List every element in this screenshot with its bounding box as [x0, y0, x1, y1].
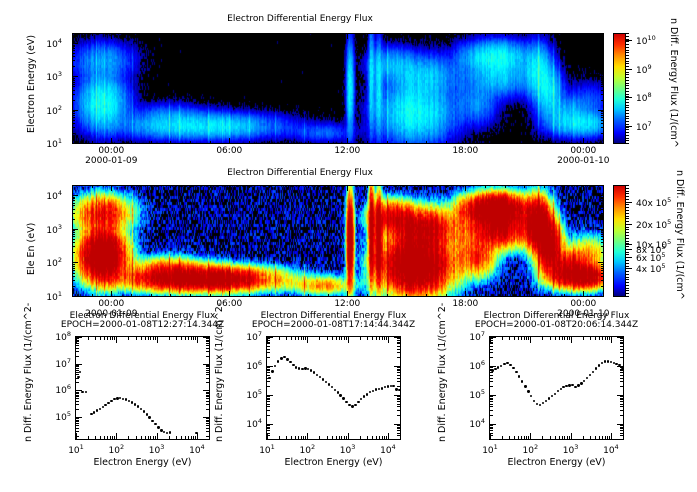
y-tick	[620, 367, 623, 368]
y-tick	[267, 370, 270, 371]
y-tick	[206, 420, 209, 421]
data-point	[93, 411, 95, 413]
data-point	[539, 404, 541, 406]
data-point	[125, 398, 127, 400]
y-tick	[267, 398, 270, 399]
x-tick	[141, 337, 142, 340]
y-tick	[490, 427, 493, 428]
y-tick	[490, 357, 493, 358]
top-panel-title: Electron Differential Energy Flux	[0, 14, 600, 24]
spectrum-xtick-label: 103	[559, 443, 583, 456]
colorbar-tick-minor	[626, 191, 629, 192]
y-tick	[76, 392, 79, 393]
x-tick	[209, 337, 210, 340]
colorbar-tick-minor	[626, 232, 629, 233]
data-point	[307, 368, 309, 370]
x-tick	[564, 337, 565, 340]
y-tick	[203, 337, 209, 338]
data-point	[580, 382, 582, 384]
x-tick	[360, 436, 361, 439]
x-tick	[379, 337, 380, 340]
data-point	[387, 385, 389, 387]
colorbar-tick-minor	[626, 229, 629, 230]
y-tick	[397, 404, 400, 405]
colorbar-tick-minor	[626, 241, 629, 242]
x-tick	[341, 436, 342, 439]
x-tick	[344, 337, 345, 340]
y-tick	[490, 428, 493, 429]
x-tick	[191, 337, 192, 340]
colorbar-tick-minor	[626, 94, 629, 95]
data-point	[381, 387, 383, 389]
x-tick	[569, 436, 570, 439]
y-tick	[620, 415, 623, 416]
data-point	[369, 391, 371, 393]
x-tick	[388, 433, 389, 439]
y-tick	[490, 349, 493, 350]
x-tick	[611, 433, 612, 439]
x-tick	[372, 436, 373, 439]
figure-root: Electron Differential Energy Flux Electr…	[0, 0, 697, 492]
y-tick	[490, 352, 493, 353]
y-tick	[267, 342, 270, 343]
y-tick	[267, 381, 270, 382]
top-xtick-labels: 00:002000-01-0906:0012:0018:0000:002000-…	[0, 146, 697, 170]
spectrum-ytick-label: 106	[236, 359, 262, 372]
colorbar-tick-minor	[626, 288, 629, 289]
x-tick	[195, 337, 196, 340]
y-tick	[267, 439, 270, 440]
x-tick	[571, 337, 572, 343]
y-tick	[76, 421, 79, 422]
colorbar-tick-minor	[626, 285, 629, 286]
y-tick	[76, 345, 79, 346]
y-tick	[206, 356, 209, 357]
y-tick	[490, 375, 493, 376]
middle-ytick-labels: 104103102101	[0, 185, 70, 297]
colorbar-tick-minor	[626, 118, 629, 119]
data-point	[146, 413, 148, 415]
y-tick	[206, 418, 209, 419]
y-tick	[206, 393, 209, 394]
x-tick	[141, 436, 142, 439]
y-tick	[490, 367, 493, 368]
x-tick	[327, 337, 328, 340]
x-tick	[372, 337, 373, 340]
x-tick	[559, 436, 560, 439]
y-tick	[76, 364, 82, 365]
y-tick	[206, 436, 209, 437]
data-point	[331, 386, 333, 388]
spectrum-xtick-label: 102	[104, 443, 128, 456]
colorbar-tick-minor	[626, 204, 629, 205]
y-tick	[490, 415, 493, 416]
data-point	[148, 416, 150, 418]
y-tick	[490, 424, 496, 425]
x-tick	[181, 337, 182, 340]
y-tick	[620, 372, 623, 373]
data-point	[96, 409, 98, 411]
spectrum-ytick-label: 104	[459, 417, 485, 430]
spectrum-ytick-label: 107	[236, 330, 262, 343]
y-tick	[397, 439, 400, 440]
colorbar-tick-minor	[626, 199, 629, 200]
x-tick	[562, 436, 563, 439]
spectrum-ytick-label: 107	[45, 357, 71, 370]
spectrum-ytick-label: 105	[45, 410, 71, 423]
x-tick	[148, 436, 149, 439]
x-tick	[348, 337, 349, 343]
x-tick	[107, 436, 108, 439]
y-tick	[620, 410, 623, 411]
xtick-label: 00:00	[565, 146, 601, 156]
y-tick	[206, 396, 209, 397]
x-tick	[602, 436, 603, 439]
colorbar-tick-minor	[626, 282, 629, 283]
spectrum-plot-area[interactable]	[266, 336, 401, 440]
colorbar-tick-minor	[626, 266, 629, 267]
x-tick	[524, 337, 525, 340]
top-ytick-labels: 104103102101	[0, 33, 70, 144]
y-tick	[397, 435, 400, 436]
colorbar-tick-minor	[626, 235, 629, 236]
colorbar-tick-major	[626, 244, 632, 245]
x-tick	[509, 337, 510, 340]
y-tick	[206, 404, 209, 405]
y-tick	[394, 424, 400, 425]
y-tick	[76, 370, 79, 371]
data-point	[601, 362, 603, 364]
x-tick	[609, 436, 610, 439]
data-point	[515, 371, 517, 373]
x-tick	[562, 337, 563, 340]
xtick-label: 06:00	[211, 146, 247, 156]
y-tick	[206, 392, 209, 393]
x-tick	[298, 337, 299, 340]
data-point	[607, 360, 609, 362]
y-tick	[206, 368, 209, 369]
y-tick	[76, 404, 79, 405]
x-tick	[623, 337, 624, 340]
y-tick	[397, 428, 400, 429]
y-tick	[76, 423, 79, 424]
y-tick	[620, 343, 623, 344]
data-point	[151, 420, 153, 422]
y-tick	[267, 337, 273, 338]
colorbar-tick-minor	[626, 221, 629, 222]
colorbar-tick-minor	[626, 260, 629, 261]
data-point	[548, 397, 550, 399]
y-tick	[267, 378, 270, 379]
y-tick	[620, 396, 623, 397]
colorbar-tick-minor	[626, 36, 629, 37]
x-tick	[595, 337, 596, 340]
xtick-label: 12:00	[329, 146, 365, 156]
y-tick	[267, 349, 270, 350]
y-tick	[490, 435, 493, 436]
x-tick	[176, 436, 177, 439]
y-tick	[620, 370, 623, 371]
colorbar-tick-minor	[626, 193, 629, 194]
x-tick	[583, 436, 584, 439]
x-tick	[193, 436, 194, 439]
x-tick	[384, 436, 385, 439]
y-tick	[490, 381, 493, 382]
data-point	[107, 402, 109, 404]
colorbar-tick-label: 20x 105	[636, 218, 671, 231]
spectrum-xtick-label: 103	[145, 443, 169, 456]
y-tick	[397, 367, 400, 368]
spectrum-ytick-label: 108	[45, 330, 71, 343]
y-tick	[267, 424, 273, 425]
data-point	[509, 364, 511, 366]
colorbar-tick-minor	[626, 135, 629, 136]
y-tick	[76, 378, 79, 379]
y-tick	[76, 417, 82, 418]
y-tick	[490, 340, 493, 341]
y-tick	[206, 374, 209, 375]
data-point	[154, 423, 156, 425]
y-tick	[76, 348, 79, 349]
y-tick	[490, 337, 496, 338]
spectrum-ylabel-group: n Diff. Energy Flux (1/(cm^2-	[437, 442, 576, 453]
data-point	[372, 390, 374, 392]
y-tick	[397, 398, 400, 399]
x-tick	[100, 337, 101, 340]
y-tick	[76, 401, 79, 402]
top-colorbar	[613, 33, 626, 144]
y-tick	[206, 345, 209, 346]
xtick-label: 18:00	[447, 146, 483, 156]
x-tick	[112, 436, 113, 439]
colorbar-tick-minor	[626, 140, 629, 141]
y-tick	[267, 399, 270, 400]
y-tick	[617, 337, 623, 338]
colorbar-tick-minor	[626, 72, 629, 73]
y-tick	[620, 338, 623, 339]
data-point	[384, 386, 386, 388]
x-tick	[157, 433, 158, 439]
y-tick	[267, 401, 270, 402]
spectrum-xlabel: Electron Energy (eV)	[479, 457, 634, 468]
x-tick	[95, 337, 96, 340]
colorbar-tick-major	[626, 126, 632, 127]
colorbar-tick-minor	[626, 290, 629, 291]
y-tick	[76, 337, 82, 338]
xtick-date-label: 2000-01-10	[555, 156, 611, 166]
x-tick	[303, 436, 304, 439]
x-tick	[88, 337, 89, 340]
y-tick	[397, 425, 400, 426]
y-tick	[490, 343, 493, 344]
colorbar-tick-major	[626, 257, 632, 258]
spectrum-ytick-label: 104	[236, 417, 262, 430]
y-tick	[76, 365, 79, 366]
y-tick	[397, 342, 400, 343]
y-tick	[394, 337, 400, 338]
data-point	[357, 401, 359, 403]
y-tick	[267, 340, 270, 341]
colorbar-tick-major	[626, 69, 632, 70]
x-tick	[514, 337, 515, 340]
y-tick	[267, 395, 273, 396]
spectrum-plot-area[interactable]	[75, 336, 210, 440]
y-tick	[267, 366, 273, 367]
colorbar-tick-minor	[626, 207, 629, 208]
x-tick	[128, 436, 129, 439]
y-tick	[620, 401, 623, 402]
x-tick	[382, 337, 383, 340]
spectrum-xtick-label: 102	[295, 443, 319, 456]
y-tick	[76, 418, 79, 419]
y-tick	[76, 366, 79, 367]
colorbar-tick-label: 109	[636, 63, 652, 76]
middle-spectrogram-plot[interactable]	[72, 185, 604, 297]
colorbar-tick-major	[626, 40, 632, 41]
y-tick	[490, 396, 493, 397]
x-tick	[559, 337, 560, 340]
spectrum-subtitle: EPOCH=2000-01-08T20:06:14.344Z	[419, 320, 694, 330]
colorbar-tick-minor	[626, 44, 629, 45]
x-tick	[112, 337, 113, 340]
xtick-label: 00:00	[93, 299, 129, 309]
spectrum-ylabel-group: n Diff. Energy Flux (1/(cm^2-	[214, 442, 353, 453]
y-tick	[76, 390, 82, 391]
y-tick	[76, 393, 79, 394]
colorbar-tick-minor	[626, 188, 629, 189]
data-point	[560, 388, 562, 390]
x-tick	[104, 337, 105, 340]
colorbar-tick-minor	[626, 47, 629, 48]
x-tick	[107, 337, 108, 340]
x-tick	[528, 337, 529, 340]
y-tick	[490, 369, 493, 370]
colorbar-tick-minor	[626, 227, 629, 228]
data-point	[527, 390, 529, 392]
y-tick	[397, 386, 400, 387]
ytick-label: 104	[46, 37, 62, 50]
colorbar-tick-label: 4x 105	[636, 262, 666, 275]
data-point	[398, 389, 400, 391]
data-point	[577, 384, 579, 386]
x-tick	[301, 436, 302, 439]
data-point	[360, 398, 362, 400]
x-tick	[569, 337, 570, 340]
x-tick	[623, 436, 624, 439]
data-point	[595, 367, 597, 369]
data-point	[497, 366, 499, 368]
x-tick	[346, 436, 347, 439]
colorbar-tick-minor	[626, 254, 629, 255]
middle-colorbar-label-group: n Diff. Energy Flux (1/(cm^	[685, 170, 697, 181]
data-point	[583, 380, 585, 382]
y-tick	[76, 374, 79, 375]
colorbar-tick-minor	[626, 124, 629, 125]
y-tick	[620, 342, 623, 343]
data-point	[392, 385, 394, 387]
x-tick	[327, 436, 328, 439]
colorbar-tick-minor	[626, 213, 629, 214]
x-tick	[319, 337, 320, 340]
y-tick	[76, 409, 79, 410]
x-tick	[336, 337, 337, 340]
data-point	[289, 361, 291, 363]
y-tick	[76, 396, 79, 397]
x-tick	[567, 436, 568, 439]
y-tick	[490, 346, 493, 347]
data-point	[375, 388, 377, 390]
colorbar-tick-major	[626, 97, 632, 98]
spectrum-ytick-label: 106	[459, 359, 485, 372]
y-tick	[397, 378, 400, 379]
y-tick	[620, 381, 623, 382]
y-tick	[267, 369, 270, 370]
colorbar-tick-minor	[626, 263, 629, 264]
y-tick	[206, 425, 209, 426]
data-point	[137, 405, 139, 407]
y-tick	[620, 375, 623, 376]
colorbar-tick-minor	[626, 185, 629, 186]
data-point	[557, 390, 559, 392]
x-tick	[307, 337, 308, 343]
y-tick	[620, 439, 623, 440]
y-tick	[620, 346, 623, 347]
ytick-label: 103	[46, 70, 62, 83]
x-tick	[384, 337, 385, 340]
colorbar-tick-label: 108	[636, 91, 652, 104]
colorbar-tick-minor	[626, 66, 629, 67]
data-point	[589, 374, 591, 376]
x-tick	[555, 436, 556, 439]
y-tick	[490, 404, 493, 405]
x-tick	[518, 337, 519, 340]
x-tick	[386, 436, 387, 439]
y-tick	[203, 390, 209, 391]
x-tick	[110, 337, 111, 340]
y-tick	[397, 415, 400, 416]
data-point	[319, 376, 321, 378]
y-tick	[394, 366, 400, 367]
y-tick	[76, 343, 79, 344]
data-point	[500, 365, 502, 367]
data-point	[169, 431, 171, 433]
data-point	[110, 400, 112, 402]
x-tick	[128, 337, 129, 340]
y-tick	[397, 338, 400, 339]
spectrum-plot-area[interactable]	[489, 336, 624, 440]
x-tick	[611, 337, 612, 343]
ytick-label: 104	[46, 189, 62, 202]
x-tick	[114, 337, 115, 340]
data-point	[271, 370, 273, 372]
colorbar-tick-minor	[626, 77, 629, 78]
colorbar-tick-label: 107	[636, 120, 652, 133]
x-tick	[590, 337, 591, 340]
data-point	[99, 408, 101, 410]
top-spectrogram-plot[interactable]	[72, 33, 604, 144]
data-point	[328, 383, 330, 385]
x-tick	[298, 436, 299, 439]
x-tick	[195, 436, 196, 439]
colorbar-tick-minor	[626, 63, 629, 64]
x-tick	[286, 337, 287, 340]
spectrum-xtick-label: 104	[185, 443, 209, 456]
y-tick	[397, 343, 400, 344]
data-point	[604, 360, 606, 362]
x-tick	[188, 436, 189, 439]
colorbar-tick-minor	[626, 83, 629, 84]
y-tick	[206, 431, 209, 432]
